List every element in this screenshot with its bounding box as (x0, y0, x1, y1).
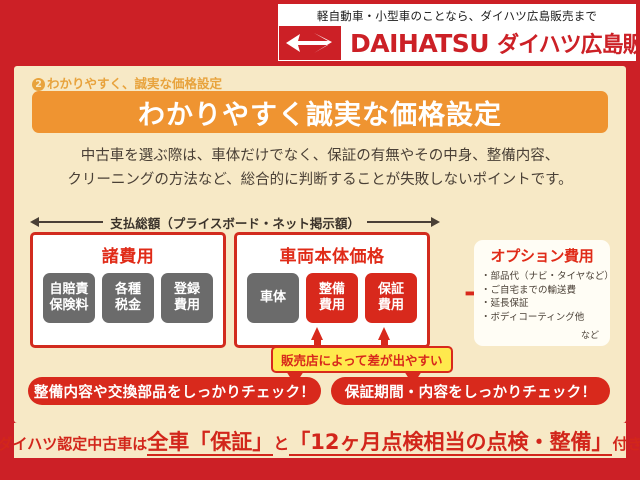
lede-paragraph: 中古車を選ぶ際は、車体だけでなく、保証の有無やその中身、整備内容、 クリーニング… (14, 144, 626, 192)
options-cost-card: オプション費用 ・部品代（ナビ・タイヤなど） ・ご自宅までの輸送費 ・延長保証 … (474, 240, 610, 346)
chip-registration-fee: 登録 費用 (161, 273, 213, 323)
kicker-number-badge: 2 (32, 78, 45, 91)
chip-line-2: 税金 (115, 298, 141, 314)
footer-part-2-highlight: 全車「保証」 (147, 430, 273, 456)
page-footer: ダイハツ認定中古車は全車「保証」と「12ヶ月点検相当の点検・整備」付き (14, 423, 626, 458)
cost-box-fees: 諸費用 自賠責 保険料 各種 税金 登録 費用 (30, 232, 226, 348)
footer-message: ダイハツ認定中古車は全車「保証」と「12ヶ月点検相当の点検・整備」付き (0, 426, 640, 456)
list-item: ・延長保証 (481, 297, 603, 311)
callout-arrow-up-left-icon (311, 327, 323, 340)
callout-text: 販売店によって差が出やすい (281, 353, 443, 368)
total-amount-label: 支払総額（プライスボード・ネット掲示額） (103, 213, 367, 232)
cost-box-fees-chips: 自賠責 保険料 各種 税金 登録 費用 (33, 273, 223, 323)
list-item: ・ご自宅までの輸送費 (481, 284, 603, 298)
cost-box-fees-heading: 諸費用 (33, 242, 223, 267)
cost-box-vehicle-price: 車両本体価格 車体 整備 費用 保証 費用 (234, 232, 430, 348)
banner-warranty-check: 保証期間・内容をしっかりチェック！ (331, 377, 610, 405)
cost-box-vehicle-heading: 車両本体価格 (237, 242, 427, 267)
main-panel: 2わかりやすく、誠実な価格設定 わかりやすく誠実な価格設定 中古車を選ぶ際は、車… (14, 66, 626, 423)
banner-maintenance-check: 整備内容や交換部品をしっかりチェック！ (28, 377, 321, 405)
section-title-bar: わかりやすく誠実な価格設定 (32, 91, 608, 133)
chip-line-1: 登録 (174, 282, 200, 298)
lede-line-2: クリーニングの方法など、総合的に判断することが失敗しないポイントです。 (14, 168, 626, 192)
callout-arrow-down-right-icon (404, 371, 422, 385)
callout-arrow-down-left-icon (286, 371, 304, 385)
callout-badge: 販売店によって差が出やすい (271, 346, 453, 373)
chip-line-2: 費用 (174, 298, 200, 314)
arrow-right-head-icon (431, 217, 440, 227)
banner-text: 整備内容や交換部品をしっかりチェック！ (34, 381, 315, 402)
chip-warranty-cost: 保証 費用 (365, 273, 417, 323)
chip-taxes: 各種 税金 (102, 273, 154, 323)
chip-line-2: 費用 (378, 298, 404, 314)
footer-part-3: と (273, 434, 289, 453)
banner-text: 保証期間・内容をしっかりチェック！ (345, 381, 597, 402)
arrow-line-left (39, 221, 103, 223)
chip-line-2: 費用 (319, 298, 345, 314)
page-title: わかりやすく誠実な価格設定 (138, 93, 502, 132)
brand-row: DAIHATSU ダイハツ広島販売 (279, 26, 635, 60)
chip-compulsory-insurance: 自賠責 保険料 (43, 273, 95, 323)
brand-name-jp: ダイハツ広島販売 (489, 27, 640, 59)
arrow-line-right (367, 221, 431, 223)
options-suffix: など (481, 328, 603, 341)
chip-line-1: 各種 (115, 282, 141, 298)
lede-line-1: 中古車を選ぶ際は、車体だけでなく、保証の有無やその中身、整備内容、 (14, 144, 626, 168)
chip-line-1: 車体 (260, 290, 286, 306)
chip-vehicle-body: 車体 (247, 273, 299, 323)
page-header: 軽自動車・小型車のことなら、ダイハツ広島販売まで DAIHATSU ダイハツ広島… (0, 0, 640, 66)
list-item: ・部品代（ナビ・タイヤなど） (481, 270, 603, 284)
header-tagline: 軽自動車・小型車のことなら、ダイハツ広島販売まで (279, 5, 635, 26)
cost-box-vehicle-chips: 車体 整備 費用 保証 費用 (237, 273, 427, 323)
options-list: ・部品代（ナビ・タイヤなど） ・ご自宅までの輸送費 ・延長保証 ・ボディコーティ… (481, 270, 603, 324)
brand-name-latin: DAIHATSU (341, 29, 489, 58)
footer-part-5: 付き (612, 435, 640, 453)
section-kicker: 2わかりやすく、誠実な価格設定 (32, 73, 222, 92)
arrow-left-head-icon (30, 217, 39, 227)
chip-maintenance-cost: 整備 費用 (306, 273, 358, 323)
options-heading: オプション費用 (481, 245, 603, 266)
chip-line-1: 保証 (378, 282, 404, 298)
list-item: ・ボディコーティング他 (481, 311, 603, 325)
chip-line-1: 整備 (319, 282, 345, 298)
chip-line-2: 保険料 (49, 298, 88, 314)
dealer-logo-block: 軽自動車・小型車のことなら、ダイハツ広島販売まで DAIHATSU ダイハツ広島… (278, 4, 636, 61)
total-amount-arrow: 支払総額（プライスボード・ネット掲示額） (30, 212, 440, 232)
callout-arrow-up-right-icon (378, 327, 390, 340)
kicker-label: わかりやすく、誠実な価格設定 (47, 76, 222, 91)
footer-part-1: ダイハツ認定中古車は (0, 435, 147, 453)
footer-part-4-highlight: 「12ヶ月点検相当の点検・整備」 (289, 430, 612, 456)
daihatsu-d-mark-icon (279, 26, 341, 60)
chip-line-1: 自賠責 (49, 282, 88, 298)
